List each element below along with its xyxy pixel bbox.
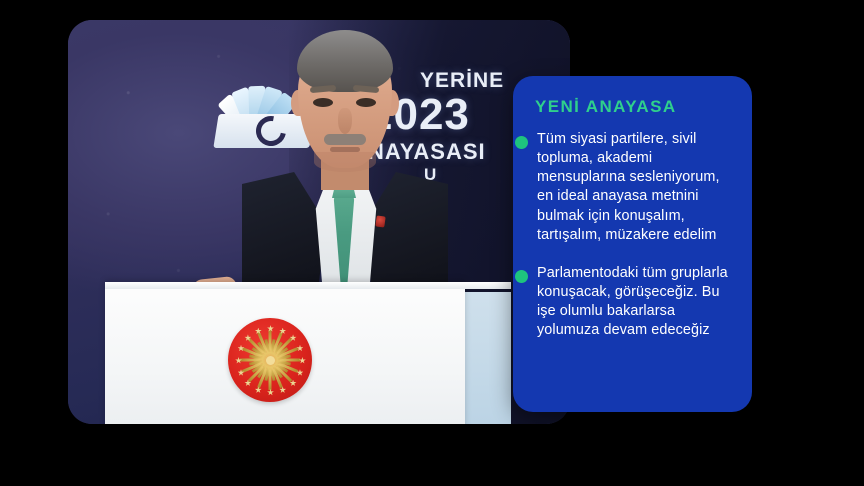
info-card: YENİ ANAYASA Tüm siyasi partilere, sivil… [513,76,752,412]
bullet-dot-icon [515,270,528,283]
press-conference-photo: YERİNE 2023 NAYASASI U [68,20,570,424]
speaker-at-podium [218,20,468,320]
eye-left [313,98,333,107]
moustache [324,134,366,145]
lapel-pin [375,215,385,227]
bullet-dot-icon [515,136,528,149]
podium-top-edge [105,282,511,289]
bullet-text: Tüm siyasi partilere, sivil topluma, aka… [529,130,736,245]
presidential-seal [228,318,312,402]
chin-shadow [314,152,376,172]
seal-sun-core [266,356,275,365]
eye-right [356,98,376,107]
card-title: YENİ ANAYASA [513,76,752,117]
nose [338,108,352,134]
bullet-item: Parlamentodaki tüm gruplarla konuşacak, … [529,264,736,341]
bullet-list: Tüm siyasi partilere, sivil topluma, aka… [513,117,752,341]
podium-side-panel [465,292,511,424]
seal-mini-star [255,386,262,393]
hair [297,30,393,92]
graphic-stage: YERİNE 2023 NAYASASI U [0,0,864,486]
bullet-item: Tüm siyasi partilere, sivil topluma, aka… [529,130,736,245]
bullet-text: Parlamentodaki tüm gruplarla konuşacak, … [529,264,736,341]
